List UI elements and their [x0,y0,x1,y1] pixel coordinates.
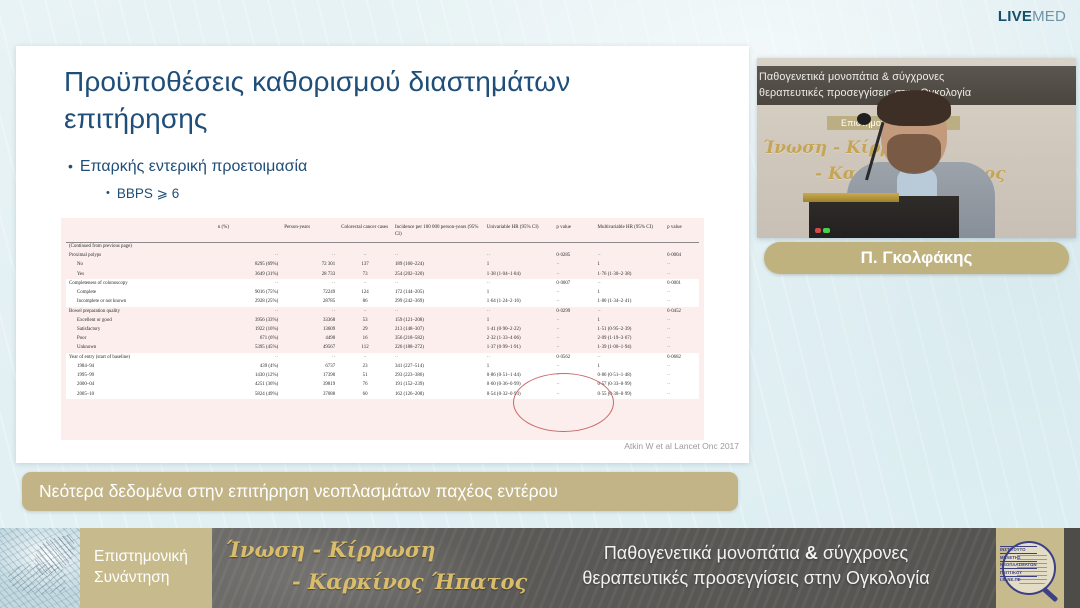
table-cell: ·· [553,381,594,390]
table-cell: 439 (4%) [215,362,281,371]
table-cell: 60 [338,390,392,399]
table-cell: 254 (202–320) [392,270,484,279]
table-cell: 159 (121–208) [392,316,484,325]
table-cell [553,242,594,252]
table-row-label: Satisfactory [66,325,215,334]
table-cell: 226 (188–272) [392,344,484,353]
table-cell: 5824 (49%) [215,390,281,399]
table-cell: ·· [484,353,554,362]
table-cell: 23 [338,362,392,371]
table-cell: 17390 [281,372,338,381]
table-cell: ·· [215,252,281,261]
slide-bullet-level2: • BBPS ⩾ 6 [106,186,179,202]
table-cell: 28 733 [281,270,338,279]
table-row-label: (Continued from previous page) [66,242,215,252]
table-cell: 2·09 (1·19–3·67) [595,335,665,344]
table-row-label: 2000–04 [66,381,215,390]
institute-logo-line5: Ι.Μ.ΝΕ.ΠΕ [1000,576,1037,583]
table-cell: 28785 [281,298,338,307]
speaker-hair [877,90,951,126]
table-cell: ·· [281,279,338,288]
table-cell: 1·38 (1·04–1·84) [484,270,554,279]
table-col-header: Univariable HR (95% CI) [484,223,554,242]
table-cell: 299 (242–369) [392,298,484,307]
table-cell: ·· [595,252,665,261]
table-cell: ·· [664,298,699,307]
table-col-header: Incidence per 100 000 person-years (95% … [392,223,484,242]
table-cell: 1 [484,261,554,270]
livemed-logo-primary: LIVE [998,8,1032,25]
table-body: (Continued from previous page)Proximal p… [66,242,699,399]
table-row: 1995–991430 (12%)1739051293 (223–386)0·8… [66,372,699,381]
table-header: n (%) Person-years Colorectal cancer cas… [66,223,699,242]
footer-banner-middle: Ίνωση - Κίρρωση - Καρκίνος Ήπατος Παθογε… [212,528,996,608]
table-row: Incomplete or not known2928 (25%)2878586… [66,298,699,307]
institute-logo-line1: ΙΝΣΤΙΤΟΥΤΟ [1000,546,1037,553]
table-cell: 213 (148–307) [392,325,484,334]
table-cell: ·· [338,353,392,362]
slide-bullet-level2-label: BBPS ⩾ 6 [117,186,179,202]
table-cell: ·· [664,335,699,344]
table-cell: 172 (144–205) [392,289,484,298]
microphone-head-icon [857,113,871,125]
table-cell: 53 [338,316,392,325]
table-cell: ·· [338,279,392,288]
table-cell: 1 [595,316,665,325]
table-col-header: Multivariable HR (95% CI) [595,223,665,242]
table-cell: 6737 [281,362,338,371]
lancet-table-figure: n (%) Person-years Colorectal cancer cas… [61,218,704,440]
table-cell: ·· [484,307,554,316]
institute-logo-line2: ΜΕΛΕΤΗΣ [1000,553,1037,560]
table-cell: 356 (218–582) [392,335,484,344]
table-cell: 112 [338,344,392,353]
table-row-label: Excellent or good [66,316,215,325]
institute-logo-magnifier-handle-icon [1042,587,1059,603]
table-cell: 1 [595,362,665,371]
slide-citation: Atkin W et al Lancet Onc 2017 [624,441,739,451]
footer-script-line2: - Καρκίνος Ήπατος [226,566,527,598]
table-row-label: Poor [66,335,215,344]
table-cell: 1922 (16%) [215,325,281,334]
table-cell: ·· [553,316,594,325]
slide-bullet-level1-label: Επαρκής εντερική προετοιμασία [80,158,307,176]
table-row-label: 2005–10 [66,390,215,399]
table-cell: ·· [392,353,484,362]
table-row-label: Complete [66,289,215,298]
table-cell: 72 301 [281,261,338,270]
footer-event-label-line2: Συνάντηση [94,568,212,589]
institute-logo: ΙΝΣΤΙΤΟΥΤΟ ΜΕΛΕΤΗΣ ΝΕΟΠΛΑΣΜΑΤΩΝ ΠΕΠΤΙΚΟΥ… [996,528,1064,608]
table-cell: ·· [338,252,392,261]
speaker-name-label: Π. Γκολφάκης [861,248,973,268]
table-cell: 341 (227–514) [392,362,484,371]
table-cell: ·· [553,298,594,307]
table-cell: 1 [484,316,554,325]
table-cell: 4490 [281,335,338,344]
table-cell: ·· [664,289,699,298]
table-row-label: Unknown [66,344,215,353]
table-cell: ·· [664,270,699,279]
footer-engraving-thumbnail [0,528,80,608]
table-cell: 0·0004 [664,252,699,261]
footer-congress-title-line1-b: σύγχρονες [818,543,908,563]
table-cell: 191 (152–239) [392,381,484,390]
table-cell: 51 [338,372,392,381]
table-cell: 13609 [281,325,338,334]
livemed-logo: LIVEMED [998,9,1066,24]
table-row: Unknown5395 (45%)49567112226 (188–272)1·… [66,344,699,353]
table-cell: ·· [281,307,338,316]
footer-script-title: Ίνωση - Κίρρωση - Καρκίνος Ήπατος [226,534,527,597]
table-cell: 37088 [281,390,338,399]
table-cell: 124 [338,289,392,298]
footer-bar: Επιστημονική Συνάντηση Ίνωση - Κίρρωση -… [0,528,1080,608]
table-cell [392,242,484,252]
footer-congress-title-line1-a: Παθογενετικά μονοπάτια [604,543,805,563]
podium-brass-top [803,193,899,202]
table-cell: 86 [338,298,392,307]
table-cell: 1 [595,261,665,270]
table-cell: 162 (126–208) [392,390,484,399]
table-cell [664,242,699,252]
table-cell: ·· [281,252,338,261]
table-cell: 0·0562 [553,353,594,362]
table-cell: 5395 (45%) [215,344,281,353]
table-cell: ·· [338,307,392,316]
table-cell: ·· [553,390,594,399]
table-row: Proximal polyps··········0·0285··0·0004 [66,252,699,261]
table-cell: 1·51 (0·95–2·39) [595,325,665,334]
table-cell: ·· [215,279,281,288]
table-cell: ·· [664,372,699,381]
table-cell: ·· [595,279,665,288]
table-row: (Continued from previous page) [66,242,699,252]
lancet-table: n (%) Person-years Colorectal cancer cas… [66,223,699,399]
table-cell: ·· [392,279,484,288]
bullet-dot-icon: • [106,186,110,200]
table-col-header: n (%) [215,223,281,242]
table-header-row: n (%) Person-years Colorectal cancer cas… [66,223,699,242]
table-cell: ·· [664,325,699,334]
table-row: Complete9016 (75%)72249124172 (144–205)1… [66,289,699,298]
table-cell: 0·0285 [553,252,594,261]
table-cell: ·· [484,252,554,261]
table-cell: ·· [553,362,594,371]
table-cell [338,242,392,252]
table-col-header: Person-years [281,223,338,242]
table-cell: ·· [595,307,665,316]
table-col-header: p value [553,223,594,242]
table-row: 1984–94439 (4%)673723341 (227–514)1··1·· [66,362,699,371]
footer-right-strip [1064,528,1080,608]
table-cell: ·· [664,362,699,371]
institute-logo-line3: ΝΕΟΠΛΑΣΜΑΤΩΝ [1000,561,1037,568]
table-cell [484,242,554,252]
institute-logo-line4: ΠΕΠΤΙΚΟΥ [1000,568,1037,575]
slide-bullet-level1: • Επαρκής εντερική προετοιμασία [68,158,307,176]
footer-event-label-line1: Επιστημονική [94,547,212,568]
table-row: No8295 (69%)72 301137189 (160–224)1··1·· [66,261,699,270]
table-cell: 73 [338,270,392,279]
table-cell: 0·0299 [553,307,594,316]
table-row: Completeness of colonoscopy··········0·0… [66,279,699,288]
table-row: Bowel preparation quality··········0·029… [66,307,699,316]
table-cell: ·· [553,335,594,344]
podium-led-green-icon [823,228,830,233]
table-cell: 0·0682 [664,353,699,362]
table-cell: ·· [215,353,281,362]
table-cell: 1·41 (0·90–2·22) [484,325,554,334]
table-cell: 0·0452 [664,307,699,316]
table-cell: ·· [392,307,484,316]
table-cell: ·· [553,270,594,279]
table-row-label: 1995–99 [66,372,215,381]
table-cell: 3649 (31%) [215,270,281,279]
table-cell: 0·54 (0·32–0·93) [484,390,554,399]
footer-congress-title-amp: & [805,543,818,563]
footer-event-label: Επιστημονική Συνάντηση [80,528,212,608]
slide-card: Προϋποθέσεις καθορισμού διαστημάτων επιτ… [16,46,749,463]
table-row: 2005–105824 (49%)3708860162 (126–208)0·5… [66,390,699,399]
table-cell: 9016 (75%) [215,289,281,298]
table-cell: 16 [338,335,392,344]
footer-congress-title-line1: Παθογενετικά μονοπάτια & σύγχρονες [522,541,990,566]
table-row: Yes3649 (31%)28 73373254 (202–320)1·38 (… [66,270,699,279]
table-cell: 1·76 (1·30–2·38) [595,270,665,279]
video-backdrop-title-line1: Παθογενετικά μονοπάτια & σύγχρονες [759,69,1070,85]
table-cell: 1 [484,362,554,371]
table-cell: ·· [664,261,699,270]
table-cell: ·· [281,353,338,362]
table-cell: 0·57 (0·33–0·99) [595,381,665,390]
bullet-dot-icon: • [68,158,73,176]
table-cell: ·· [664,316,699,325]
table-cell: 0·60 (0·36–0·99) [484,381,554,390]
table-cell: ·· [664,390,699,399]
table-row: 2000–044251 (36%)3981976191 (152–239)0·6… [66,381,699,390]
table-cell: 0·86 (0·51–1·48) [595,372,665,381]
table-cell: 49567 [281,344,338,353]
speaker-video-panel[interactable]: Παθογενετικά μονοπάτια & σύγχρονες θεραπ… [757,58,1076,238]
table-cell: 137 [338,261,392,270]
table-col-header: Colorectal cancer cases [338,223,392,242]
table-row-label: Year of entry (start of baseline) [66,353,215,362]
table-cell: 76 [338,381,392,390]
table-cell: ·· [392,252,484,261]
table-cell: 8295 (69%) [215,261,281,270]
table-cell: 0·55 (0·30–0·99) [595,390,665,399]
table-cell: ·· [595,353,665,362]
table-cell: 72249 [281,289,338,298]
table-row-label: Yes [66,270,215,279]
table-cell: ·· [215,307,281,316]
table-cell: 4251 (36%) [215,381,281,390]
table-cell: 1 [595,289,665,298]
table-cell: ·· [553,289,594,298]
table-cell: 1 [484,289,554,298]
table-cell: ·· [553,325,594,334]
table-cell: 1430 (12%) [215,372,281,381]
table-row-label: Completeness of colonoscopy [66,279,215,288]
table-row: Satisfactory1922 (16%)1360929213 (148–30… [66,325,699,334]
table-cell: 671 (6%) [215,335,281,344]
table-cell: ·· [664,381,699,390]
table-row: Year of entry (start of baseline)·······… [66,353,699,362]
table-cell: ·· [553,372,594,381]
livemed-logo-secondary: MED [1032,8,1066,25]
table-row-label: Proximal polyps [66,252,215,261]
podium-led-red-icon [815,228,821,233]
footer-congress-title: Παθογενετικά μονοπάτια & σύγχρονες θεραπ… [522,541,990,591]
presentation-title-banner: Νεότερα δεδομένα στην επιτήρηση νεοπλασμ… [22,472,738,511]
table-row-label: Incomplete or not known [66,298,215,307]
slide-title: Προϋποθέσεις καθορισμού διαστημάτων επιτ… [64,64,704,138]
table-cell: 0·0001 [664,279,699,288]
table-row-label: Bowel preparation quality [66,307,215,316]
table-cell: 293 (223–386) [392,372,484,381]
footer-script-line1: Ίνωση - Κίρρωση [226,537,436,562]
table-cell: 2·32 (1·33–4·06) [484,335,554,344]
table-cell: 39819 [281,381,338,390]
table-col-header [66,223,215,242]
table-cell: ·· [664,344,699,353]
table-cell: 1·39 (1·00–1·94) [595,344,665,353]
table-cell: ·· [484,279,554,288]
table-row-label: No [66,261,215,270]
footer-congress-title-line2: θεραπευτικές προσεγγίσεις στην Ογκολογία [522,566,990,591]
table-cell: 1·37 (0·99–1·91) [484,344,554,353]
podium [809,196,959,238]
table-cell: 33368 [281,316,338,325]
table-cell: 2928 (25%) [215,298,281,307]
table-cell: 1·64 (1·24–2·16) [484,298,554,307]
table-cell: 29 [338,325,392,334]
table-row: Poor671 (6%)449016356 (218–582)2·32 (1·3… [66,335,699,344]
speaker-beard [887,134,941,174]
table-row-label: 1984–94 [66,362,215,371]
institute-logo-text: ΙΝΣΤΙΤΟΥΤΟ ΜΕΛΕΤΗΣ ΝΕΟΠΛΑΣΜΑΤΩΝ ΠΕΠΤΙΚΟΥ… [1000,546,1037,583]
table-cell [595,242,665,252]
table-cell: ·· [553,344,594,353]
table-cell: 189 (160–224) [392,261,484,270]
table-row: Excellent or good3956 (33%)3336853159 (1… [66,316,699,325]
table-cell: 1·80 (1·34–2·41) [595,298,665,307]
table-cell [281,242,338,252]
table-col-header: p value [664,223,699,242]
table-cell: 0·86 (0·51–1·44) [484,372,554,381]
presentation-title-label: Νεότερα δεδομένα στην επιτήρηση νεοπλασμ… [39,481,558,502]
table-cell: 3956 (33%) [215,316,281,325]
table-cell: 0·0007 [553,279,594,288]
table-cell: ·· [553,261,594,270]
speaker-name-badge: Π. Γκολφάκης [764,242,1069,274]
table-cell [215,242,281,252]
